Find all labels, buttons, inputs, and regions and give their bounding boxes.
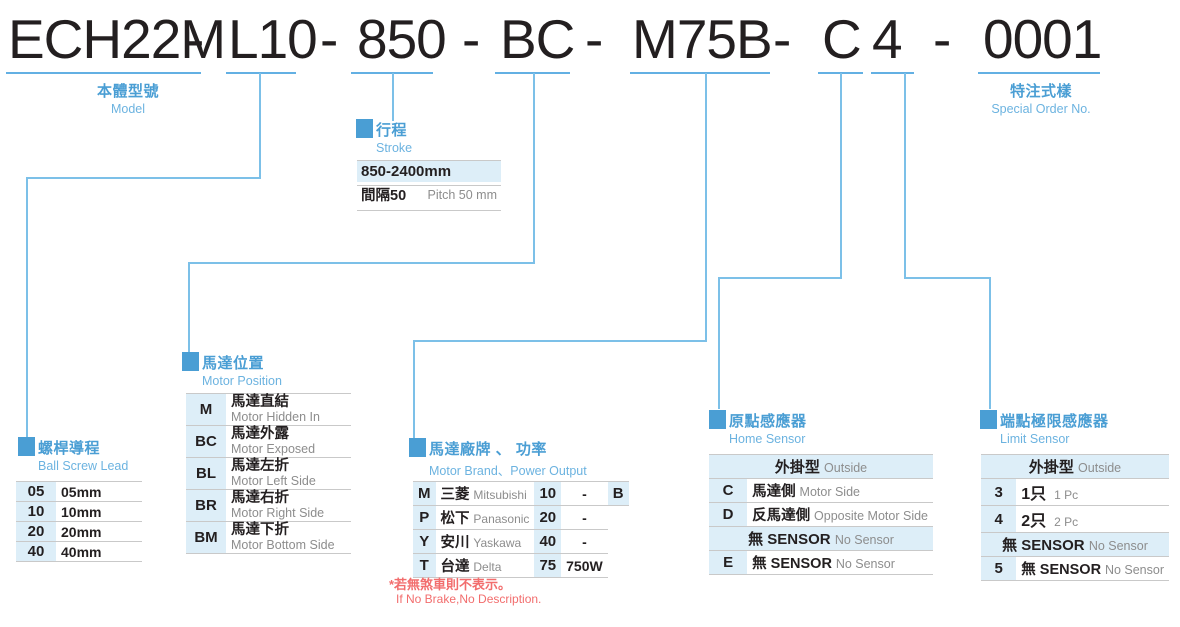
home-sensor-desc-zh: 無 SENSOR xyxy=(752,556,832,572)
label-limit-sensor-en: Limit Sensor xyxy=(1000,432,1109,446)
limit-sensor-group2-zh: 無 SENSOR xyxy=(1002,537,1085,554)
motor-position-desc-zh: 馬達左折 xyxy=(231,459,346,474)
limit-sensor-group1-zh: 外掛型 xyxy=(1029,459,1074,476)
table-group-header: 無 SENSOR No Sensor xyxy=(981,533,1169,557)
motor-brand-name-en: Panasonic xyxy=(473,512,529,526)
stroke-pitch-zh: 間隔50 xyxy=(361,188,406,204)
lead-code: 20 xyxy=(16,522,56,542)
motor-power-code: 40 xyxy=(534,530,561,554)
table-row: 20 20mm xyxy=(16,522,142,542)
home-sensor-desc-en: Opposite Motor Side xyxy=(814,509,928,523)
motor-position-desc-zh: 馬達右折 xyxy=(231,491,346,506)
lead-desc: 20mm xyxy=(56,522,142,542)
underline-motor-brand xyxy=(630,72,770,74)
limit-sensor-group1: 外掛型 Outside xyxy=(981,455,1169,479)
table-row: 40 40mm xyxy=(16,542,142,562)
motor-power-value: - xyxy=(561,530,608,554)
model-dash-1: - xyxy=(186,8,204,70)
home-sensor-desc: 反馬達側 Opposite Motor Side xyxy=(747,503,933,527)
table-row: D 反馬達側 Opposite Motor Side xyxy=(709,503,933,527)
table-row: M 馬達直結 Motor Hidden In xyxy=(186,394,351,426)
limit-sensor-desc-zh: 2只 xyxy=(1021,513,1046,530)
home-sensor-desc-en: Motor Side xyxy=(800,485,860,499)
limit-sensor-desc-zh: 無 SENSOR xyxy=(1021,562,1101,578)
connector-mbrand-v2 xyxy=(413,340,415,440)
brake-note-en: If No Brake,No Description. xyxy=(396,592,541,606)
label-ball-screw-lead-en: Ball Screw Lead xyxy=(38,459,128,473)
limit-sensor-desc: 1只 1 Pc xyxy=(1016,479,1169,506)
limit-sensor-code: 5 xyxy=(981,557,1016,581)
underline-limit-sensor xyxy=(871,72,914,74)
marker-square-icon xyxy=(709,410,726,429)
limit-sensor-desc: 無 SENSOR No Sensor xyxy=(1016,557,1169,581)
motor-brand-code: Y xyxy=(413,530,436,554)
label-limit-sensor: 端點極限感應器 Limit Sensor xyxy=(980,410,1109,446)
motor-position-code: BM xyxy=(186,522,226,554)
limit-sensor-desc: 2只 2 Pc xyxy=(1016,506,1169,533)
motor-position-code: M xyxy=(186,394,226,426)
model-segment-motor-brand: M75B xyxy=(632,8,772,70)
motor-power-code: 10 xyxy=(534,482,561,506)
limit-sensor-group2: 無 SENSOR No Sensor xyxy=(981,533,1169,557)
home-sensor-code: C xyxy=(709,479,747,503)
home-sensor-code: E xyxy=(709,551,747,575)
motor-brand-code: T xyxy=(413,554,436,578)
table-row: E 無 SENSOR No Sensor xyxy=(709,551,933,575)
connector-mpos-h xyxy=(188,262,535,264)
connector-mbrand-v1 xyxy=(705,73,707,341)
model-dash-3: - xyxy=(462,8,480,70)
model-segment-home-sensor: C xyxy=(822,8,861,70)
motor-brand-name-zh: 安川 xyxy=(441,535,470,551)
table-group-header: 無 SENSOR No Sensor xyxy=(709,527,933,551)
motor-brand-name: 安川 Yaskawa xyxy=(436,530,535,554)
label-stroke-en: Stroke xyxy=(376,141,412,155)
stroke-rule-mid xyxy=(357,185,501,186)
label-ball-screw-lead-zh: 螺桿導程 xyxy=(38,440,100,457)
home-sensor-group2-en: No Sensor xyxy=(835,533,894,547)
home-sensor-desc-zh: 反馬達側 xyxy=(752,508,810,524)
label-model-zh: 本體型號 xyxy=(97,83,159,100)
label-home-sensor-en: Home Sensor xyxy=(729,432,807,446)
motor-power-code: 75 xyxy=(534,554,561,578)
stroke-range-row: 850-2400mm xyxy=(357,161,501,182)
motor-brand-name-en: Yaskawa xyxy=(473,536,521,550)
connector-lead-v1 xyxy=(259,73,261,178)
motor-brake-code: B xyxy=(608,482,629,506)
motor-position-desc-zh: 馬達直結 xyxy=(231,395,346,410)
connector-lead-h xyxy=(26,177,261,179)
motor-brand-name: 松下 Panasonic xyxy=(436,506,535,530)
label-home-sensor-zh: 原點感應器 xyxy=(729,413,807,430)
home-sensor-group1: 外掛型 Outside xyxy=(709,455,933,479)
table-group-header: 外掛型 Outside xyxy=(709,455,933,479)
label-motor-position-zh: 馬達位置 xyxy=(202,355,264,372)
marker-square-icon xyxy=(356,119,373,138)
motor-brand-name-zh: 松下 xyxy=(441,511,470,527)
motor-brand-code: M xyxy=(413,482,436,506)
model-segment-limit-sensor: 4 xyxy=(872,8,902,70)
limit-sensor-group1-en: Outside xyxy=(1078,461,1121,475)
stroke-rule-bottom xyxy=(357,210,501,211)
table-row: 4 2只 2 Pc xyxy=(981,506,1169,533)
motor-brand-name-zh: 台達 xyxy=(441,559,470,575)
motor-position-code: BR xyxy=(186,490,226,522)
motor-position-desc: 馬達右折 Motor Right Side xyxy=(226,490,351,522)
marker-square-icon xyxy=(980,410,997,429)
limit-sensor-group2-en: No Sensor xyxy=(1089,539,1148,553)
motor-power-value: 750W xyxy=(561,554,608,578)
motor-position-desc-en: Motor Bottom Side xyxy=(231,538,346,552)
table-row: M 三菱 Mitsubishi 10 - B xyxy=(413,482,629,506)
home-sensor-desc-en: No Sensor xyxy=(836,557,895,571)
label-special-order: 特注式樣 Special Order No. xyxy=(980,80,1102,116)
home-sensor-group2-zh: 無 SENSOR xyxy=(748,531,831,548)
motor-brake-empty xyxy=(608,554,629,578)
model-segment-stroke: 850 xyxy=(357,8,446,70)
model-segment-special-order: 0001 xyxy=(983,8,1101,70)
home-sensor-desc: 馬達側 Motor Side xyxy=(747,479,933,503)
limit-sensor-code: 3 xyxy=(981,479,1016,506)
limit-sensor-desc-en: No Sensor xyxy=(1105,563,1164,577)
underline-lead xyxy=(226,72,296,74)
underline-special-order xyxy=(978,72,1100,74)
marker-square-icon xyxy=(18,437,35,456)
limit-sensor-code: 4 xyxy=(981,506,1016,533)
model-dash-5: - xyxy=(773,8,791,70)
label-stroke: 行程 Stroke xyxy=(356,119,412,155)
table-row: BR 馬達右折 Motor Right Side xyxy=(186,490,351,522)
model-dash-4: - xyxy=(585,8,603,70)
limit-sensor-table: 外掛型 Outside 3 1只 1 Pc 4 2只 2 Pc 無 SENSOR… xyxy=(981,454,1169,581)
model-dash-2: - xyxy=(320,8,338,70)
marker-square-icon xyxy=(409,438,426,457)
marker-square-icon xyxy=(182,352,199,371)
home-sensor-group1-en: Outside xyxy=(824,461,867,475)
home-sensor-desc: 無 SENSOR No Sensor xyxy=(747,551,933,575)
motor-brake-empty xyxy=(608,530,629,554)
brake-note: *若無煞車則不表示。 If No Brake,No Description. xyxy=(389,578,541,606)
motor-brand-table: M 三菱 Mitsubishi 10 - B P 松下 Panasonic 20… xyxy=(413,481,629,578)
limit-sensor-desc-en: 1 Pc xyxy=(1054,488,1078,502)
connector-limit-v1 xyxy=(904,73,906,278)
label-motor-brand: 馬達廠牌 、 功率 Motor Brand、Power Output xyxy=(409,438,587,479)
home-sensor-desc-zh: 馬達側 xyxy=(752,484,796,500)
label-motor-position-en: Motor Position xyxy=(202,374,282,388)
lead-desc: 05mm xyxy=(56,482,142,502)
stroke-pitch-en: Pitch 50 mm xyxy=(428,188,497,202)
home-sensor-table: 外掛型 Outside C 馬達側 Motor Side D 反馬達側 Oppo… xyxy=(709,454,933,575)
table-row: P 松下 Panasonic 20 - xyxy=(413,506,629,530)
motor-brand-code: P xyxy=(413,506,436,530)
part-number-configurator-diagram: ECH22M - L10 - 850 - BC - M75B - C 4 - 0… xyxy=(0,0,1180,627)
lead-desc: 10mm xyxy=(56,502,142,522)
motor-power-value: - xyxy=(561,482,608,506)
label-motor-position: 馬達位置 Motor Position xyxy=(182,352,282,388)
motor-position-desc-en: Motor Hidden In xyxy=(231,410,346,424)
connector-home-h xyxy=(718,277,842,279)
home-sensor-code: D xyxy=(709,503,747,527)
motor-position-desc-zh: 馬達外露 xyxy=(231,427,346,442)
table-group-header: 外掛型 Outside xyxy=(981,455,1169,479)
connector-mpos-v2 xyxy=(188,262,190,360)
motor-brand-name: 台達 Delta xyxy=(436,554,535,578)
connector-limit-h xyxy=(904,277,991,279)
motor-position-desc: 馬達直結 Motor Hidden In xyxy=(226,394,351,426)
connector-mpos-v1 xyxy=(533,73,535,263)
limit-sensor-desc-en: 2 Pc xyxy=(1054,515,1078,529)
motor-position-desc-en: Motor Left Side xyxy=(231,474,346,488)
table-row: BC 馬達外露 Motor Exposed xyxy=(186,426,351,458)
motor-power-code: 20 xyxy=(534,506,561,530)
motor-power-value: - xyxy=(561,506,608,530)
motor-brand-name: 三菱 Mitsubishi xyxy=(436,482,535,506)
motor-position-code: BC xyxy=(186,426,226,458)
home-sensor-group1-zh: 外掛型 xyxy=(775,459,820,476)
motor-position-code: BL xyxy=(186,458,226,490)
table-row: 05 05mm xyxy=(16,482,142,502)
table-row: Y 安川 Yaskawa 40 - xyxy=(413,530,629,554)
motor-position-desc: 馬達外露 Motor Exposed xyxy=(226,426,351,458)
label-limit-sensor-zh: 端點極限感應器 xyxy=(1000,413,1109,430)
brake-note-zh: *若無煞車則不表示。 xyxy=(389,577,511,592)
motor-position-desc-en: Motor Exposed xyxy=(231,442,346,456)
connector-limit-v2 xyxy=(989,277,991,409)
motor-position-desc-en: Motor Right Side xyxy=(231,506,346,520)
motor-position-desc: 馬達下折 Motor Bottom Side xyxy=(226,522,351,554)
table-row: 10 10mm xyxy=(16,502,142,522)
connector-stroke-v xyxy=(392,73,394,121)
motor-brand-name-zh: 三菱 xyxy=(441,487,470,503)
connector-home-v1 xyxy=(840,73,842,278)
label-model-en: Model xyxy=(48,102,208,116)
model-number-row: ECH22M - L10 - 850 - BC - M75B - C 4 - 0… xyxy=(0,8,1180,70)
model-segment-lead: L10 xyxy=(228,8,317,70)
table-row: BL 馬達左折 Motor Left Side xyxy=(186,458,351,490)
label-model: 本體型號 Model xyxy=(48,80,208,116)
connector-mbrand-h xyxy=(413,340,707,342)
lead-code: 05 xyxy=(16,482,56,502)
table-row: BM 馬達下折 Motor Bottom Side xyxy=(186,522,351,554)
label-special-order-en: Special Order No. xyxy=(980,102,1102,116)
stroke-table: 850-2400mm 間隔50 Pitch 50 mm xyxy=(357,161,501,207)
model-segment-motor-position: BC xyxy=(500,8,574,70)
label-motor-brand-en: Motor Brand、Power Output xyxy=(429,460,587,479)
model-dash-6: - xyxy=(933,8,951,70)
connector-lead-v2 xyxy=(26,177,28,445)
table-row: 5 無 SENSOR No Sensor xyxy=(981,557,1169,581)
label-special-order-zh: 特注式樣 xyxy=(1010,83,1072,100)
motor-position-desc-zh: 馬達下折 xyxy=(231,523,346,538)
lead-desc: 40mm xyxy=(56,542,142,562)
stroke-range-value: 850-2400mm xyxy=(357,161,501,182)
table-row: C 馬達側 Motor Side xyxy=(709,479,933,503)
limit-sensor-desc-zh: 1只 xyxy=(1021,486,1046,503)
ball-screw-lead-table: 05 05mm 10 10mm 20 20mm 40 40mm xyxy=(16,481,142,562)
home-sensor-group2: 無 SENSOR No Sensor xyxy=(709,527,933,551)
connector-home-v2 xyxy=(718,277,720,409)
table-row: 3 1只 1 Pc xyxy=(981,479,1169,506)
label-home-sensor: 原點感應器 Home Sensor xyxy=(709,410,807,446)
motor-brand-name-en: Delta xyxy=(473,560,501,574)
underline-body xyxy=(6,72,201,74)
motor-brake-empty xyxy=(608,506,629,530)
table-row: T 台達 Delta 75 750W xyxy=(413,554,629,578)
motor-position-desc: 馬達左折 Motor Left Side xyxy=(226,458,351,490)
motor-position-table: M 馬達直結 Motor Hidden In BC 馬達外露 Motor Exp… xyxy=(186,393,351,554)
lead-code: 10 xyxy=(16,502,56,522)
label-motor-brand-zh: 馬達廠牌 、 功率 xyxy=(429,441,547,458)
label-stroke-zh: 行程 xyxy=(376,122,407,139)
label-ball-screw-lead: 螺桿導程 Ball Screw Lead xyxy=(18,437,128,473)
motor-brand-name-en: Mitsubishi xyxy=(473,488,526,502)
lead-code: 40 xyxy=(16,542,56,562)
